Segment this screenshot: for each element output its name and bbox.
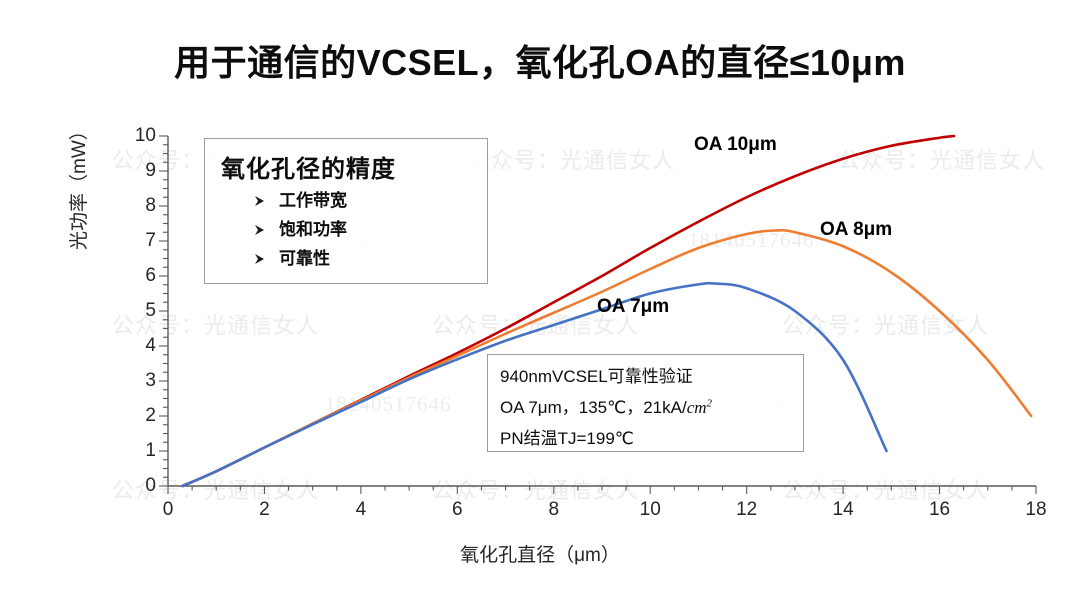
- y-axis-tick-label: 6: [122, 265, 156, 287]
- y-axis-tick-label: 7: [122, 230, 156, 252]
- arrow-bullet-icon: [253, 252, 267, 266]
- series-label-oa8: OA 8μm: [820, 219, 892, 241]
- condition-line-3: PN结温TJ=199℃: [500, 424, 791, 455]
- y-axis-tick-label: 1: [122, 440, 156, 462]
- x-axis-tick-label: 10: [630, 499, 670, 521]
- list-item: 工作带宽: [253, 190, 473, 213]
- precision-bullet-list: 工作带宽 饱和功率 可靠性: [219, 190, 473, 271]
- y-axis-tick-label: 0: [122, 475, 156, 497]
- y-axis-tick-label: 9: [122, 160, 156, 182]
- precision-panel: 氧化孔径的精度 工作带宽 饱和功率 可靠性: [204, 138, 488, 284]
- condition-line-1: 940nmVCSEL可靠性验证: [500, 362, 791, 393]
- x-axis-tick-label: 12: [727, 499, 767, 521]
- slide-canvas: 用于通信的VCSEL，氧化孔OA的直径≤10μm 公众号：光通信女人 公众号：光…: [0, 0, 1080, 608]
- condition-panel: 940nmVCSEL可靠性验证 OA 7μm，135℃，21kA/cm2 PN结…: [487, 354, 804, 452]
- series-label-oa10: OA 10μm: [694, 134, 777, 156]
- y-axis-title: 光功率（mW）: [64, 121, 91, 250]
- y-axis-tick-label: 3: [122, 370, 156, 392]
- x-axis-tick-label: 2: [244, 499, 284, 521]
- x-axis-tick-label: 0: [148, 499, 188, 521]
- condition-line-2-exponent: 2: [707, 397, 713, 409]
- list-item: 可靠性: [253, 248, 473, 271]
- page-title: 用于通信的VCSEL，氧化孔OA的直径≤10μm: [0, 34, 1080, 86]
- x-axis-title: 氧化孔直径（μm）: [0, 540, 1080, 567]
- x-axis-tick-label: 18: [1016, 499, 1056, 521]
- series-label-oa7: OA 7μm: [597, 296, 669, 318]
- x-axis-tick-label: 6: [437, 499, 477, 521]
- list-item-label: 工作带宽: [279, 190, 347, 213]
- precision-panel-heading: 氧化孔径的精度: [221, 149, 473, 184]
- y-axis-tick-label: 10: [122, 125, 156, 147]
- x-axis-tick-label: 14: [823, 499, 863, 521]
- arrow-bullet-icon: [253, 194, 267, 208]
- condition-line-2-unit: cm: [687, 398, 707, 417]
- y-axis-tick-label: 2: [122, 405, 156, 427]
- list-item: 饱和功率: [253, 219, 473, 242]
- x-axis-tick-label: 8: [534, 499, 574, 521]
- list-item-label: 可靠性: [279, 248, 330, 271]
- arrow-bullet-icon: [253, 223, 267, 237]
- list-item-label: 饱和功率: [279, 219, 347, 242]
- condition-line-2: OA 7μm，135℃，21kA/cm2: [500, 393, 791, 424]
- condition-line-2-prefix: OA 7μm，135℃，21kA/: [500, 398, 687, 417]
- y-axis-tick-label: 8: [122, 195, 156, 217]
- y-axis-tick-label: 5: [122, 300, 156, 322]
- x-axis-tick-label: 4: [341, 499, 381, 521]
- x-axis-tick-label: 16: [920, 499, 960, 521]
- y-axis-tick-label: 4: [122, 335, 156, 357]
